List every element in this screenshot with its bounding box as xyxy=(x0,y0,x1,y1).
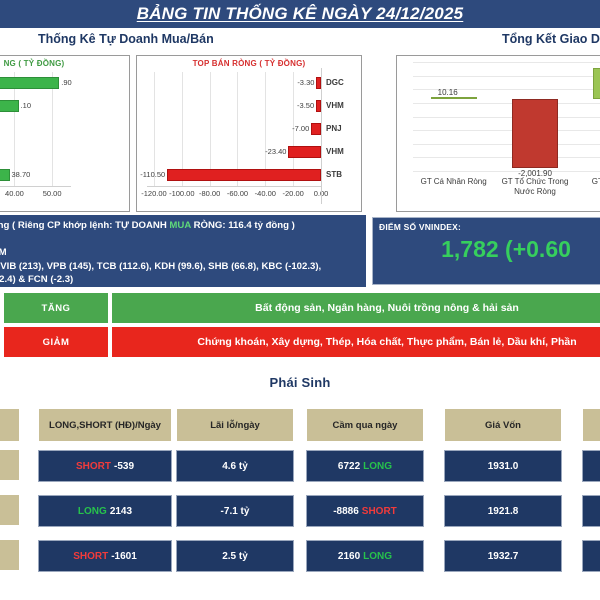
hold-tag: SHORT xyxy=(362,506,397,517)
chart-bar-value: .10 xyxy=(21,100,31,112)
chart-gridline xyxy=(413,144,600,145)
chart-category-label: STB xyxy=(326,169,342,181)
chart-bar xyxy=(0,77,59,89)
chart-category-divider xyxy=(321,68,322,204)
hold-value: 2160 xyxy=(338,551,360,562)
hold-value: -8886 xyxy=(333,506,359,517)
position-tag: LONG xyxy=(78,506,107,517)
derivatives-extra-cell xyxy=(582,450,600,482)
chart-bar xyxy=(0,169,10,181)
chart-bar-value: -3.30 xyxy=(297,77,314,89)
tu-doanh-summary: 931.6 tỷ đồng ( Riêng CP khớp lệnh: TỰ D… xyxy=(0,215,366,287)
chart-xtick: -20.00 xyxy=(283,189,304,198)
chart-bar-value: 10.16 xyxy=(438,88,458,97)
position-value: 2143 xyxy=(110,506,132,517)
chart-tong-ket: 10.16GT Cá Nhân Ròng-2,001.90GT Tổ Chức … xyxy=(396,55,600,212)
info-strip: 931.6 tỷ đồng ( Riêng CP khớp lệnh: TỰ D… xyxy=(0,215,600,293)
chart-xtick: -80.00 xyxy=(199,189,220,198)
chart-xtick: -60.00 xyxy=(227,189,248,198)
chart-bar xyxy=(167,169,321,181)
chart-bar-value: -3.50 xyxy=(297,100,314,112)
derivatives-header-cell: Cầm qua ngày xyxy=(306,408,424,442)
movers-down-value: Chứng khoán, Xây dựng, Thép, Hóa chất, T… xyxy=(112,327,600,357)
chart-xtick: -120.00 xyxy=(141,189,166,198)
chart-axis xyxy=(147,186,321,187)
summary-mua-tag: MUA xyxy=(169,220,191,231)
vnindex-value: 1,782 (+0.60 xyxy=(379,236,600,263)
hold-value: 6722 xyxy=(338,461,360,472)
derivatives-row-label xyxy=(0,494,20,526)
chart-category-label: GT Tự Doanh xyxy=(574,177,600,187)
derivatives-pnl-cell: 2.5 tỷ xyxy=(176,540,294,572)
position-tag: SHORT xyxy=(73,551,108,562)
chart-category-label: PNJ xyxy=(326,123,342,135)
chart-bar xyxy=(0,100,19,112)
hold-tag: LONG xyxy=(363,461,392,472)
derivatives-row-label xyxy=(0,539,20,571)
chart-category-label: VHM xyxy=(326,100,344,112)
chart-gridline xyxy=(413,117,600,118)
derivatives-hold-cell: 2160LONG xyxy=(306,540,424,572)
chart-bar-value: 38.70 xyxy=(12,169,31,181)
summary-line-4: PG (346.1), VIB (213), VPB (145), TCB (1… xyxy=(0,260,360,274)
vnindex-label: ĐIỂM SỐ VNINDEX: xyxy=(379,222,600,232)
chart-xtick: -40.00 xyxy=(255,189,276,198)
panel-title-tong-ket: Tổng Kết Giao Dịch xyxy=(502,32,600,46)
chart-bar-value: .90 xyxy=(61,77,71,89)
derivatives-extra-cell xyxy=(582,495,600,527)
chart-category-label: VHM xyxy=(326,146,344,158)
summary-line-1-head: 931.6 tỷ đồng ( Riêng CP khớp lệnh: TỰ D… xyxy=(0,220,169,231)
movers-down-label: GIẢM xyxy=(4,327,108,357)
chart-bar-value: -7.00 xyxy=(292,123,309,135)
derivatives-header-cell: Giá Vốn xyxy=(444,408,562,442)
chart-top-ban-rong: TOP BÁN RÒNG ( TỶ ĐỒNG) -120.00-100.00-8… xyxy=(136,55,362,212)
movers-up-value: Bất động sản, Ngân hàng, Nuôi trồng nông… xyxy=(112,293,600,323)
summary-line-3: M, PNJ, VNM xyxy=(0,246,360,260)
derivatives-position-cell: SHORT-1601 xyxy=(38,540,172,572)
panel-headers: Thống Kê Tự Doanh Mua/Bán Tổng Kết Giao … xyxy=(0,28,600,55)
derivatives-title: Phái Sinh xyxy=(0,361,600,398)
summary-line-5: (-3), MBB (-2.4) & FCN (-2.3) xyxy=(0,273,360,287)
derivatives-row-label xyxy=(0,449,20,481)
movers-row-up: TĂNG Bất động sản, Ngân hàng, Nuôi trồng… xyxy=(0,293,600,323)
chart-title-mua: NG ( TỶ ĐỒNG) xyxy=(0,56,129,68)
chart-top-mua-rong: NG ( TỶ ĐỒNG) 30.0040.0050.00.90.1022.10… xyxy=(0,55,130,212)
hold-tag: LONG xyxy=(363,551,392,562)
chart-gridline xyxy=(413,62,600,63)
derivatives-header-cell xyxy=(0,408,20,442)
derivatives-cost-cell: 1931.0 xyxy=(444,450,562,482)
chart-axis xyxy=(0,186,71,187)
chart-bar-value: -110.50 xyxy=(140,169,165,181)
derivatives-hold-cell: 6722LONG xyxy=(306,450,424,482)
chart-xtick: 40.00 xyxy=(5,189,24,198)
chart-xtick: 50.00 xyxy=(43,189,62,198)
charts-row: NG ( TỶ ĐỒNG) 30.0040.0050.00.90.1022.10… xyxy=(0,55,600,215)
chart-xtick: -100.00 xyxy=(169,189,194,198)
derivatives-header-cell: Lãi lỗ/ngày xyxy=(176,408,294,442)
movers-row-down: GIẢM Chứng khoán, Xây dựng, Thép, Hóa ch… xyxy=(0,327,600,357)
derivatives-position-cell: LONG2143 xyxy=(38,495,172,527)
chart-gridline xyxy=(413,171,600,172)
plot-area-tong-ket: 10.16GT Cá Nhân Ròng-2,001.90GT Tổ Chức … xyxy=(397,56,600,211)
chart-title-ban: TOP BÁN RÒNG ( TỶ ĐỒNG) xyxy=(137,56,361,68)
page-title-bar: BẢNG TIN THỐNG KÊ NGÀY 24/12/2025 xyxy=(0,0,600,28)
chart-category-label: GT Cá Nhân Ròng xyxy=(412,177,496,187)
chart-gridline xyxy=(413,103,600,104)
derivatives-cost-cell: 1921.8 xyxy=(444,495,562,527)
position-value: -539 xyxy=(114,461,134,472)
panel-title-tu-doanh: Thống Kê Tự Doanh Mua/Bán xyxy=(38,32,214,46)
chart-bar xyxy=(431,97,477,99)
chart-gridline xyxy=(413,157,600,158)
summary-line-1: 931.6 tỷ đồng ( Riêng CP khớp lệnh: TỰ D… xyxy=(0,219,360,233)
summary-line-1-tail: RÒNG: 116.4 tỷ đồng ) xyxy=(191,220,295,231)
page-title: BẢNG TIN THỐNG KÊ NGÀY 24/12/2025 xyxy=(0,0,600,28)
derivatives-pnl-cell: -7.1 tỷ xyxy=(176,495,294,527)
position-tag: SHORT xyxy=(76,461,111,472)
vnindex-box: ĐIỂM SỐ VNINDEX: 1,782 (+0.60 xyxy=(372,217,600,285)
derivatives-header-cell-right xyxy=(582,408,600,442)
movers-up-label: TĂNG xyxy=(4,293,108,323)
chart-bar xyxy=(512,99,558,167)
chart-bar-value: -23.40 xyxy=(265,146,286,158)
plot-area-mua: 30.0040.0050.00.90.1022.1024.5038.70 xyxy=(0,68,129,204)
chart-bar xyxy=(593,68,600,99)
chart-bar xyxy=(288,146,321,158)
chart-category-label: GT Tổ Chức TrongNước Ròng xyxy=(493,177,577,197)
chart-gridline xyxy=(413,76,600,77)
derivatives-grid: LONG,SHORT (HĐ)/NgàyLãi lỗ/ngàyCầm qua n… xyxy=(0,398,600,558)
derivatives-hold-cell: -8886SHORT xyxy=(306,495,424,527)
chart-gridline xyxy=(413,130,600,131)
derivatives-header-cell: LONG,SHORT (HĐ)/Ngày xyxy=(38,408,172,442)
chart-category-label: DGC xyxy=(326,77,344,89)
summary-line-2: G, VPB xyxy=(0,233,360,247)
derivatives-position-cell: SHORT-539 xyxy=(38,450,172,482)
derivatives-extra-cell xyxy=(582,540,600,572)
chart-bar xyxy=(311,123,321,135)
position-value: -1601 xyxy=(111,551,137,562)
derivatives-cost-cell: 1932.7 xyxy=(444,540,562,572)
movers-section: TĂNG Bất động sản, Ngân hàng, Nuôi trồng… xyxy=(0,293,600,357)
derivatives-pnl-cell: 4.6 tỷ xyxy=(176,450,294,482)
plot-area-ban: -120.00-100.00-80.00-60.00-40.00-20.000.… xyxy=(137,68,361,204)
